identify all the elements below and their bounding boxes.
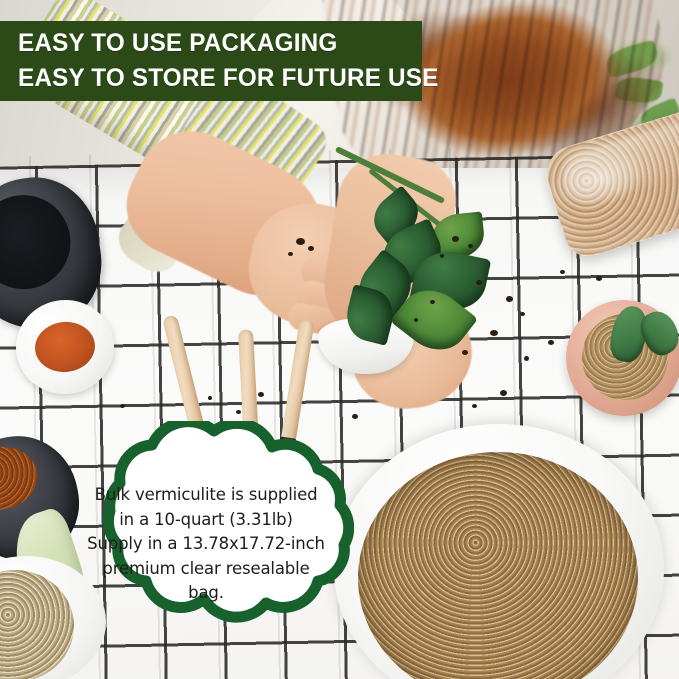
soil-scatter: [560, 270, 565, 274]
soil-scatter: [596, 276, 602, 281]
soil-scatter: [548, 340, 554, 345]
callout-line-4: premium clear resealable: [78, 557, 334, 582]
soil-scatter: [430, 300, 435, 304]
soil-scatter: [476, 280, 482, 285]
soil-scatter: [462, 350, 468, 355]
cloud-callout-text: Bulk vermiculite is supplied in a 10-qua…: [78, 483, 334, 606]
soil-scatter: [414, 318, 418, 322]
callout-line-3: Supply in a 13.78x17.72-inch: [78, 532, 334, 557]
callout-line-5: bag.: [78, 581, 334, 606]
soil-scatter: [352, 414, 358, 419]
product-image-canvas: EASY TO USE PACKAGING EASY TO STORE FOR …: [0, 0, 679, 679]
soil-scatter: [288, 252, 293, 256]
soil-scatter: [524, 356, 529, 361]
soil-scatter: [296, 238, 305, 245]
soil-scatter: [120, 404, 125, 408]
callout-line-2: in a 10-quart (3.31lb): [78, 508, 334, 533]
cloud-callout: Bulk vermiculite is supplied in a 10-qua…: [58, 421, 354, 647]
soil-scatter: [452, 236, 459, 242]
soil-scatter: [472, 404, 477, 408]
soil-scatter: [236, 410, 241, 414]
headline-line-2: EASY TO STORE FOR FUTURE USE: [18, 61, 410, 96]
soil-scatter: [258, 392, 264, 397]
soil-scatter: [468, 244, 473, 248]
callout-line-1: Bulk vermiculite is supplied: [78, 483, 334, 508]
soil-scatter: [500, 390, 507, 396]
headline-banner: EASY TO USE PACKAGING EASY TO STORE FOR …: [0, 21, 422, 101]
soil-scatter: [308, 246, 314, 251]
soil-scatter: [490, 330, 498, 336]
soil-scatter: [520, 312, 525, 316]
soil-scatter: [208, 396, 212, 400]
soil-scatter: [506, 296, 513, 302]
soil-scatter: [440, 254, 444, 258]
headline-line-1: EASY TO USE PACKAGING: [18, 26, 410, 61]
